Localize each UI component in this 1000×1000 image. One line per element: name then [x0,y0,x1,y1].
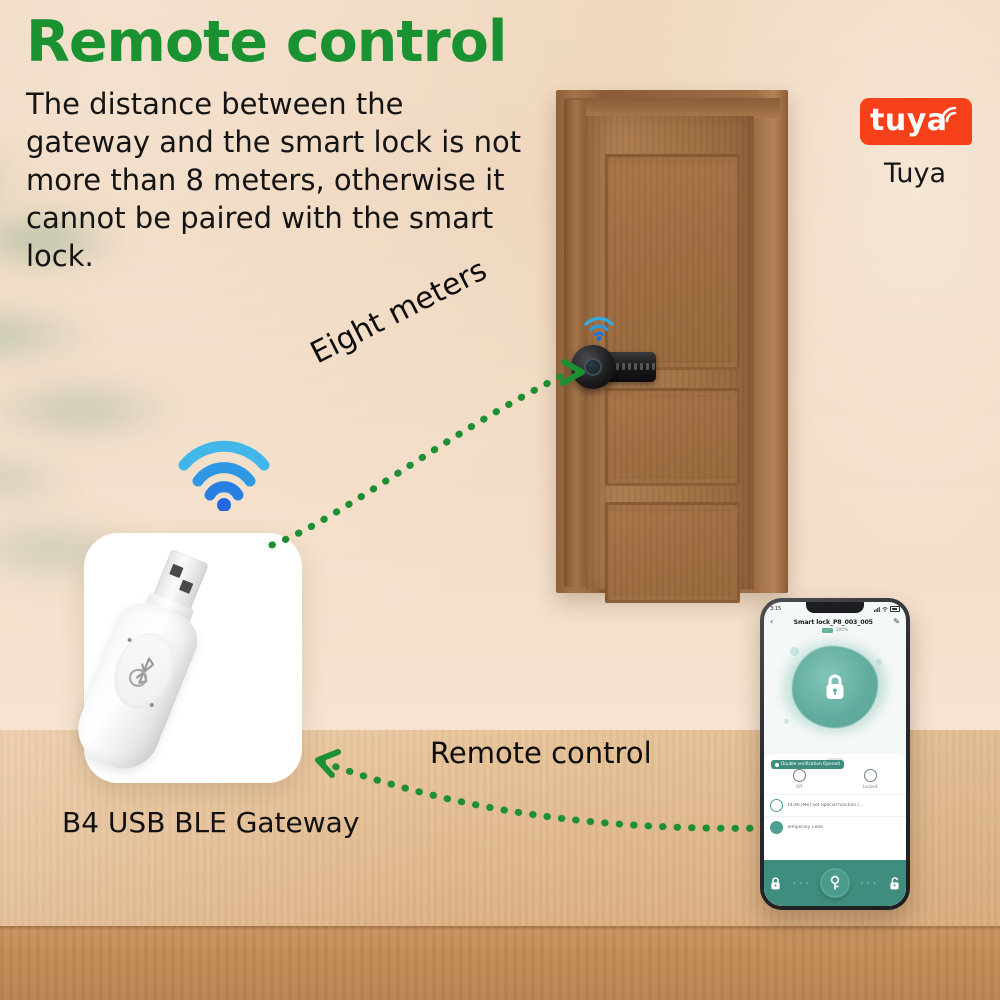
door-jamb-right [754,100,780,587]
door-panel-middle [605,388,740,486]
status-badge-text: Double verification Opened [781,762,840,767]
gateway-caption: B4 USB BLE Gateway [62,806,359,839]
wifi-icon [882,607,888,612]
key-icon [828,875,842,891]
list-item-text: Temporary Code [787,825,823,830]
lock-closed-icon[interactable] [769,876,782,891]
status-badge: Double verification Opened [771,760,844,769]
lock-status-hero [764,633,906,741]
remote-control-label: Remote control [430,736,652,770]
door-header-trim [564,98,780,118]
list-item[interactable]: 14:46 [Me] Set Special function [... [764,794,906,816]
chevron-left-icon[interactable]: ‹ [770,618,773,626]
phone-notch [806,602,864,613]
list-item-text: 14:46 [Me] Set Special function [... [787,803,863,808]
check-circle-icon [775,763,779,767]
quick-action-locked-label: Locked [863,784,878,789]
wifi-arc-icon [939,105,961,125]
padlock-icon [864,769,877,782]
hero-bubble-3 [784,719,789,724]
smartphone-mockup: 3:15 ‹ Smart lock_P8_003_005 [760,598,910,910]
pencil-icon[interactable]: ✎ [893,618,900,626]
key-button[interactable] [820,868,850,898]
chevron-right-group[interactable]: › › › [861,880,877,887]
chevron-left-group[interactable]: ‹ ‹ ‹ [793,880,809,887]
infographic-canvas: Remote control The distance between the … [0,0,1000,1000]
tuya-logo: tuya [860,98,972,145]
status-indicators [874,606,900,612]
door-panel-top [605,154,740,370]
quick-action-locked[interactable]: Locked [863,769,878,789]
tuya-logo-text: tuya [870,102,948,140]
phone-screen: 3:15 ‹ Smart lock_P8_003_005 [764,602,906,906]
tuya-brand-label: Tuya [845,158,985,189]
bell-icon [770,799,783,812]
device-title: Smart lock_P8_003_005 [794,619,873,626]
phone-bottom-sheet: Off Locked 14:46 [Me] Set Special functi… [764,754,906,906]
chevron-right-icon: › [898,824,900,830]
door-panel-bottom [605,502,740,603]
power-icon [793,769,806,782]
status-time: 3:15 [770,606,781,612]
door-frame [556,90,788,593]
page-title: Remote control [26,14,506,71]
battery-icon [890,606,900,612]
hero-bubble-1 [790,647,799,656]
hero-bubble-2 [876,659,882,665]
quick-action-off-label: Off [793,784,806,789]
usb-led-2 [149,702,154,707]
quick-action-off[interactable]: Off [793,769,806,789]
wooden-table-edge [0,926,1000,1000]
gateway-wifi-icon [176,437,272,511]
phone-app-header: ‹ Smart lock_P8_003_005 ✎ [764,616,906,627]
door-jamb-left [564,100,586,587]
phone-tab-bar: ‹ ‹ ‹ › › › [764,860,906,906]
list-item[interactable]: Temporary Code › [764,816,906,838]
lock-open-icon[interactable] [888,876,901,891]
keypad-icon [770,821,783,834]
padlock-icon[interactable] [822,672,848,702]
door-illustration [556,90,788,593]
page-description: The distance between the gateway and the… [26,86,526,276]
signal-icon [874,607,880,612]
door-lock-wifi-icon [582,313,616,341]
smart-lock-fingerprint-reader [571,345,615,389]
